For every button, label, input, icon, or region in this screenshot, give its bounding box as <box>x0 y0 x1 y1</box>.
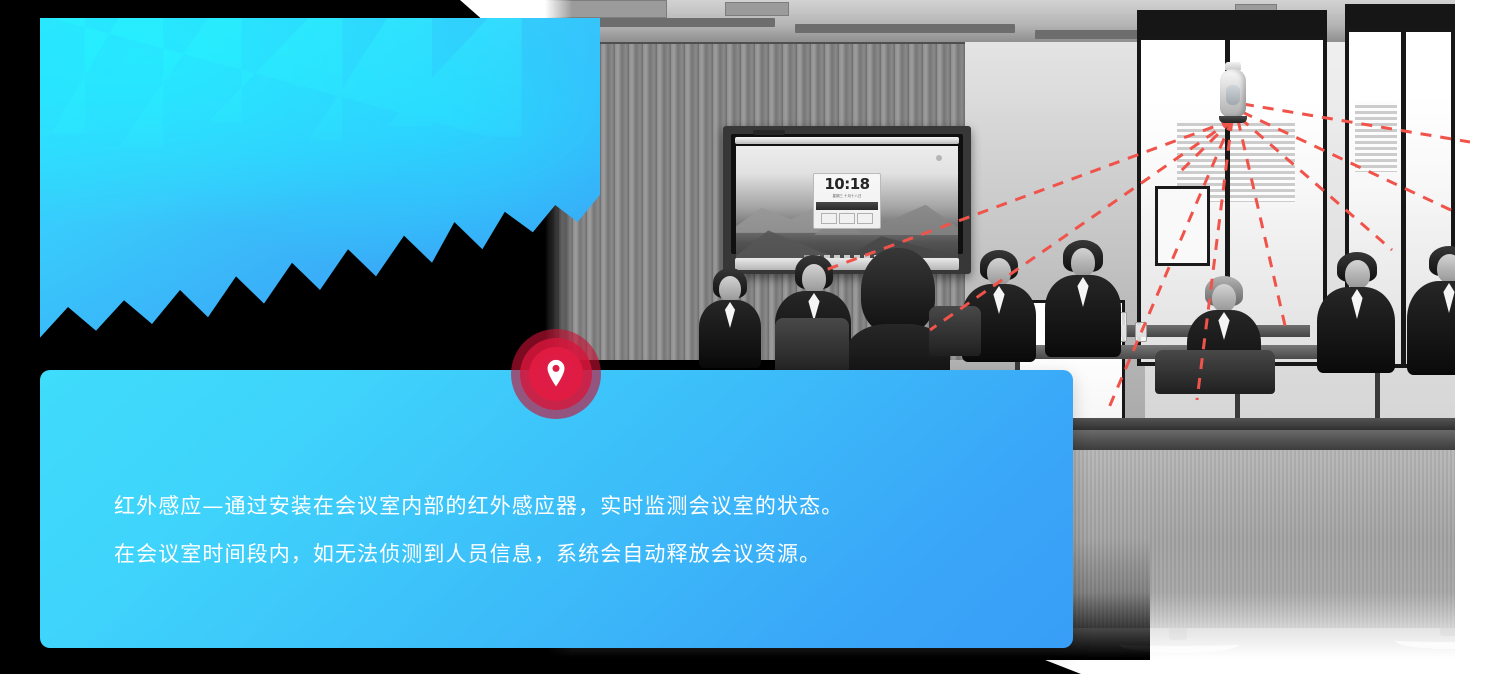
person-head <box>1437 254 1455 283</box>
display-lightbar <box>735 137 959 144</box>
person-seated <box>1315 252 1397 372</box>
sensor-body <box>1220 69 1246 117</box>
display-clock-tiles <box>816 213 878 224</box>
sensor-lens-icon <box>1226 85 1240 105</box>
person-hair <box>861 248 935 334</box>
table-front <box>1065 430 1455 450</box>
person-head <box>1345 260 1370 289</box>
ceiling-vent <box>545 0 667 18</box>
display-clock-time: 10:18 <box>816 177 878 192</box>
display-tile <box>839 213 855 224</box>
window-header <box>1345 4 1455 28</box>
info-panel-text: 红外感应—通过安装在会议室内部的红外感应器，实时监测会议室的状态。 在会议室时间… <box>114 482 1033 578</box>
person-head <box>1212 284 1236 312</box>
ceiling-beam <box>795 24 1015 33</box>
banner-stage: 10:18 星期三 十月十八日 <box>0 0 1500 674</box>
person-seated <box>1043 240 1123 355</box>
display-clock-date: 星期三 十月十八日 <box>816 194 878 199</box>
credenza <box>1060 428 1455 628</box>
wall-board <box>1155 186 1210 266</box>
display-stylus <box>753 130 785 135</box>
ceiling-vent <box>725 2 789 16</box>
display-clock-bar <box>816 202 878 210</box>
chair <box>1155 350 1275 394</box>
person-head <box>802 264 826 293</box>
infrared-sensor <box>1218 62 1248 124</box>
person-head <box>1071 248 1095 277</box>
person-seated <box>1405 246 1455 376</box>
person-head <box>719 276 741 302</box>
map-pin-icon <box>543 358 569 388</box>
location-marker[interactable] <box>511 329 601 419</box>
chair <box>929 306 981 356</box>
water-glass <box>1135 322 1147 342</box>
display-tile <box>857 213 873 224</box>
person-head <box>987 258 1011 286</box>
display-clock-widget: 10:18 星期三 十月十八日 <box>813 173 881 229</box>
window-header <box>1137 10 1327 36</box>
display-tile <box>821 213 837 224</box>
ceiling-beam <box>575 18 775 27</box>
display-logo-icon <box>936 155 942 161</box>
info-line-1: 红外感应—通过安装在会议室内部的红外感应器，实时监测会议室的状态。 <box>114 482 1033 530</box>
chair <box>775 318 849 376</box>
info-line-2: 在会议室时间段内，如无法侦测到人员信息，系统会自动释放会议资源。 <box>114 530 1033 578</box>
sensor-base <box>1219 116 1247 123</box>
person-seated <box>695 268 765 368</box>
chair-base <box>1119 636 1239 653</box>
window-blind <box>1355 102 1397 172</box>
